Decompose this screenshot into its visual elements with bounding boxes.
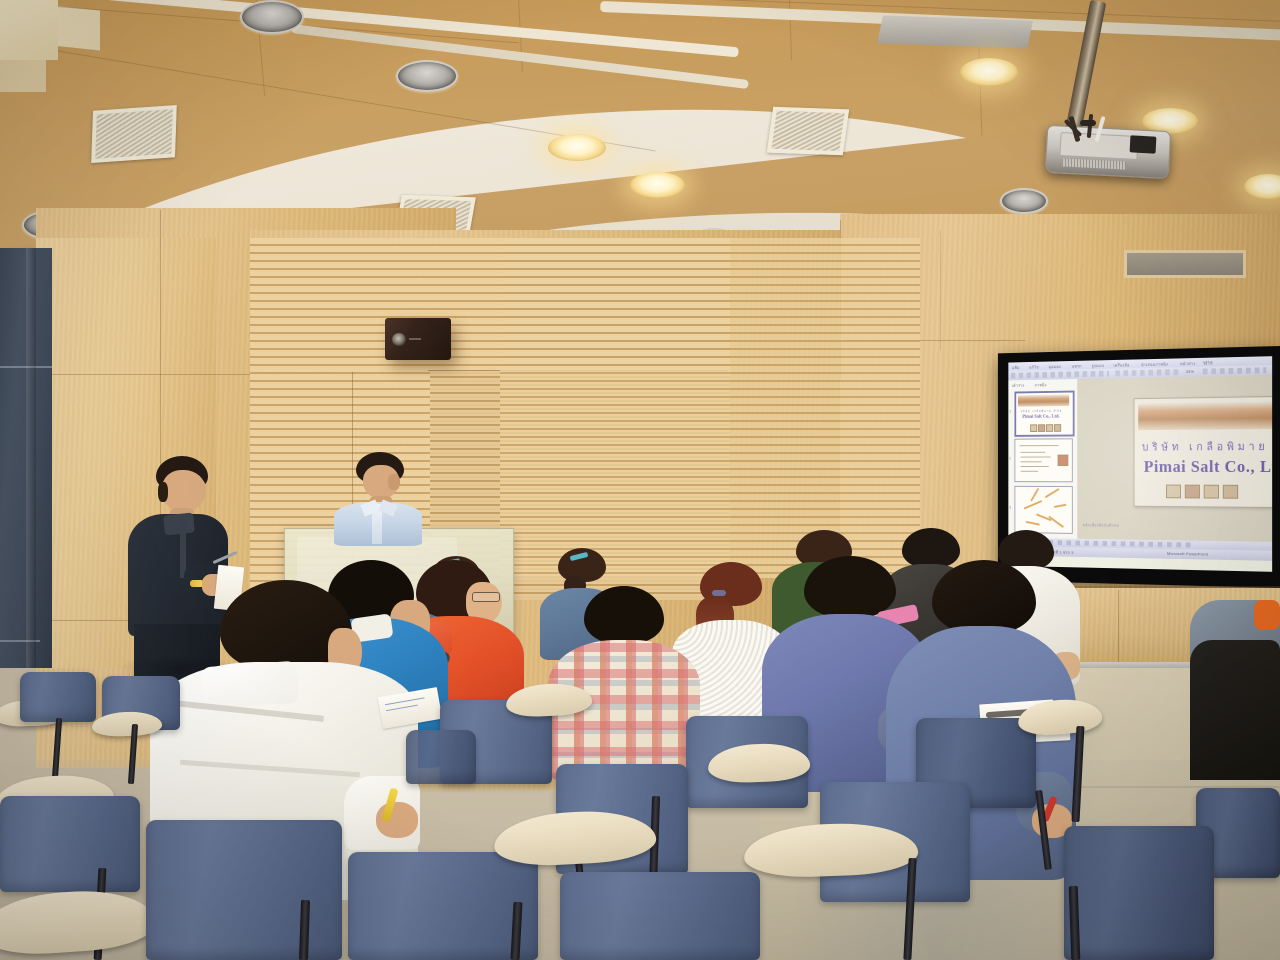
downlight-icon [396,60,458,92]
shirt-collar [201,661,300,710]
ceiling-metal-strip [877,15,1033,48]
downlight-icon [1000,188,1048,214]
thumb-bullet [1021,466,1049,467]
downlight-icon [630,172,685,198]
thumb-bullet [1021,452,1046,453]
black-top [1190,640,1280,780]
zoom-level[interactable]: 33% [1186,369,1194,374]
chair-back[interactable] [348,852,538,960]
slide-english-title: Pimai Salt Co., Ltd. [1144,457,1272,477]
wall-slat-panel-right [500,238,920,578]
speaker-slot [409,338,421,340]
hair-side [158,482,168,502]
chair-back[interactable] [1064,826,1214,960]
wall-speaker [385,318,451,360]
downlight-icon [240,0,304,34]
outline-tab[interactable]: เค้าร่าง [1012,382,1025,389]
speaker-cone-icon [392,333,406,346]
chair-back[interactable] [146,820,342,960]
thumb-logo-icon [1046,424,1053,432]
chair-back[interactable] [0,796,140,892]
thumb-logo-icon [1054,424,1061,432]
current-slide: บริษัท เกลือพิมาย จำกัด Pimai Salt Co., … [1134,396,1273,508]
hair [932,560,1036,634]
presenter-podium [332,452,424,542]
thumb-number: 2 [1009,456,1011,461]
thumb-english-title: Pimai Salt Co., Ltd. [1022,415,1059,420]
slide-thai-title: บริษัท เกลือพิมาย จำกัด [1142,437,1272,456]
wall-corner-top-left [0,0,58,60]
slide-logo-icon [1166,485,1181,499]
thumb-branch [1045,488,1060,498]
thumb-branch [1054,504,1067,508]
slide-logo-icon [1223,485,1238,499]
toolbar-icons-3[interactable] [1203,367,1267,374]
thumb-bullet [1021,471,1039,472]
toolbar-icons[interactable] [1011,371,1109,379]
slide-banner-image [1138,401,1272,430]
thumb-logo-icon [1038,424,1045,432]
projector-lens [1130,135,1157,153]
thumb-number: 3 [1009,505,1011,510]
hvac-vent-icon [767,107,849,155]
thumb-logo-icon [1030,424,1037,432]
wall-vent-icon [1124,250,1246,278]
wall-seam [940,230,941,350]
glasses-icon [472,592,500,602]
list-item[interactable] [1014,486,1072,534]
ceiling-seam [978,40,983,150]
attendee-black-top [1190,600,1280,780]
downlight-icon [548,134,606,161]
slide-notes-placeholder[interactable]: คลิกเพื่อเพิ่มบันทึกย่อ [1083,522,1119,529]
orange-accent [1254,600,1280,630]
list-item[interactable]: บริษัท เกลือพิมาย จำกัด Pimai Salt Co., … [1014,391,1074,437]
thumb-number: 1 [1009,409,1011,414]
attendee-plaid [548,586,700,782]
thumb-bullet [1021,457,1051,458]
hvac-vent-icon [91,105,177,163]
thumb-branch [1030,488,1039,502]
face-shadow [388,474,400,490]
chair-back[interactable] [406,730,476,784]
hair [584,586,664,644]
thumb-title-line [1020,445,1059,446]
paper-line [386,705,418,712]
slide-thumbnail-pane[interactable]: เค้าร่าง ภาพนิ่ง บริษัท เกลือพิมาย จำกัด… [1008,379,1078,552]
face-profile [188,478,206,502]
seminar-room-photo: แฟ้ม แก้ไข มุมมอง แทรก รูปแบบ เครื่องมือ… [0,0,1280,960]
wall-seam [36,374,286,375]
slide-logo-icon [1204,485,1219,499]
hair [804,556,896,618]
paper-line [385,697,425,705]
thumb-banner-image [1018,394,1069,406]
acoustic-panel-highlight [26,248,36,668]
chair-back[interactable] [560,872,760,960]
thumb-bullet [1021,461,1042,462]
thumb-branch [1026,521,1040,526]
thumb-logo-icon [1058,455,1069,466]
shirt-collar [163,512,195,535]
status-app-name: Microsoft PowerPoint [1167,551,1208,557]
slide-logo-icon [1185,485,1200,499]
toolbar-icons-2[interactable] [1115,369,1180,376]
thumb-branch [1024,500,1043,509]
chair-back[interactable] [20,672,96,722]
list-item[interactable] [1014,438,1072,482]
thumb-thai-title: บริษัท เกลือพิมาย จำกัด [1021,409,1063,414]
projector-cable-clamp [1080,120,1096,126]
thumb-branch [1048,516,1064,528]
slides-tab[interactable]: ภาพนิ่ง [1035,382,1047,389]
wainscot-seam [1118,590,1119,664]
ceiling-projector [1046,118,1168,174]
